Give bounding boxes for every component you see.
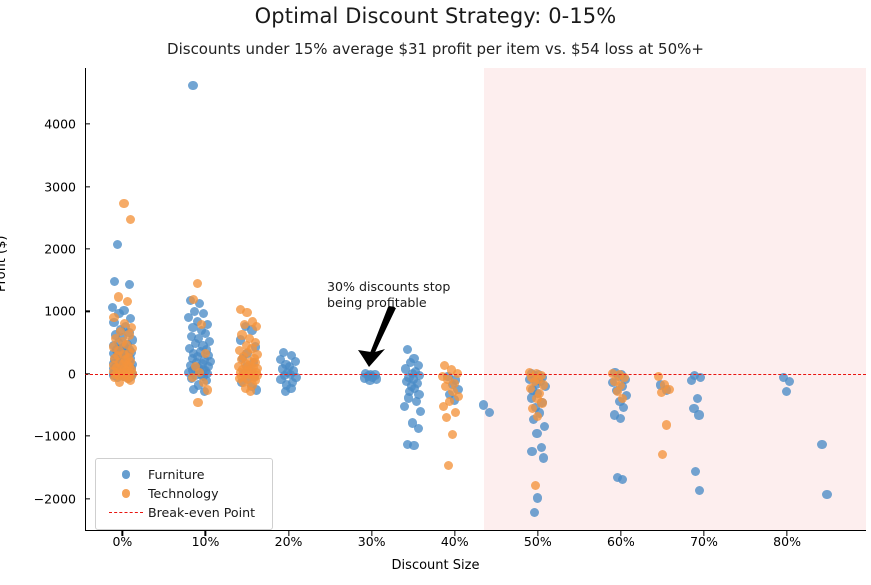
y-tick-label: −1000 — [14, 429, 76, 444]
scatter-point — [537, 398, 546, 407]
chart-title: Optimal Discount Strategy: 0-15% — [0, 4, 871, 28]
scatter-point — [618, 475, 627, 484]
scatter-point — [444, 461, 453, 470]
scatter-point — [242, 308, 251, 317]
scatter-point — [540, 422, 549, 431]
scatter-point — [662, 420, 671, 429]
legend-entry[interactable]: Break-even Point — [104, 503, 264, 522]
x-axis-label: Discount Size — [0, 558, 871, 573]
scatter-point — [454, 392, 463, 401]
scatter-point — [400, 402, 409, 411]
scatter-point — [126, 215, 135, 224]
x-tick-label: 10% — [192, 534, 220, 549]
scatter-point — [451, 408, 460, 417]
legend-marker — [104, 489, 148, 498]
scatter-point — [403, 345, 412, 354]
scatter-point — [416, 407, 425, 416]
x-tick-mark — [620, 531, 621, 536]
scatter-point — [119, 199, 128, 208]
x-tick-mark — [703, 531, 704, 536]
legend-entry[interactable]: Furniture — [104, 465, 264, 484]
x-tick-mark — [454, 531, 455, 536]
x-tick-mark — [537, 531, 538, 536]
legend-label: Furniture — [148, 467, 205, 482]
scatter-point — [527, 447, 536, 456]
y-tick-label: 1000 — [14, 304, 76, 319]
scatter-point — [533, 493, 542, 502]
scatter-point — [193, 398, 202, 407]
scatter-point — [365, 375, 374, 384]
scatter-point — [199, 309, 208, 318]
scatter-point — [691, 467, 700, 476]
legend-dot-marker — [122, 470, 131, 479]
x-tick-label: 20% — [275, 534, 303, 549]
x-tick-label: 30% — [358, 534, 386, 549]
y-tick-label: 3000 — [14, 179, 76, 194]
legend-dot-marker — [122, 489, 131, 498]
x-tick-label: 70% — [690, 534, 718, 549]
break-even-line — [85, 374, 866, 375]
scatter-point — [252, 322, 261, 331]
x-tick-label: 40% — [441, 534, 469, 549]
scatter-point — [201, 349, 210, 358]
x-tick-label: 50% — [524, 534, 552, 549]
scatter-point — [126, 376, 135, 385]
scatter-point — [412, 397, 421, 406]
y-tick-mark — [85, 435, 90, 436]
scatter-point — [110, 277, 119, 286]
scatter-point — [281, 387, 290, 396]
scatter-point — [125, 280, 134, 289]
scatter-point — [114, 292, 123, 301]
x-tick-mark — [122, 531, 123, 536]
chart-subtitle: Discounts under 15% average $31 profit p… — [0, 40, 871, 58]
y-tick-mark — [85, 498, 90, 499]
y-tick-mark — [85, 373, 90, 374]
y-tick-label: 2000 — [14, 241, 76, 256]
scatter-point — [109, 313, 118, 322]
scatter-point — [439, 402, 448, 411]
x-tick-mark — [786, 531, 787, 536]
y-tick-label: 0 — [14, 366, 76, 381]
scatter-point — [694, 410, 703, 419]
legend-label: Technology — [148, 486, 219, 501]
scatter-point — [123, 297, 132, 306]
scatter-point — [203, 385, 212, 394]
x-tick-label: 0% — [112, 534, 132, 549]
scatter-point — [532, 429, 541, 438]
x-tick-label: 80% — [773, 534, 801, 549]
scatter-point — [246, 387, 255, 396]
legend-dashed-marker — [109, 512, 143, 513]
x-tick-label: 60% — [607, 534, 635, 549]
legend-marker — [104, 470, 148, 479]
scatter-point — [539, 453, 548, 462]
x-tick-mark — [205, 531, 206, 536]
scatter-point — [822, 490, 831, 499]
scatter-point — [240, 320, 249, 329]
scatter-point — [197, 320, 206, 329]
y-axis-label: Profit ($) — [0, 236, 9, 292]
y-tick-mark — [85, 124, 90, 125]
scatter-point — [188, 81, 197, 90]
y-axis-spine — [85, 68, 86, 531]
scatter-point — [817, 440, 826, 449]
scatter-point — [442, 413, 451, 422]
chart-figure: Optimal Discount Strategy: 0-15% Discoun… — [0, 0, 871, 585]
y-tick-mark — [85, 311, 90, 312]
scatter-point — [448, 430, 457, 439]
legend-entry[interactable]: Technology — [104, 484, 264, 503]
scatter-point — [409, 441, 418, 450]
y-tick-mark — [85, 186, 90, 187]
annotation-arrow-icon — [355, 305, 400, 370]
legend-marker — [104, 512, 148, 513]
y-tick-label: 4000 — [14, 117, 76, 132]
scatter-point — [531, 481, 540, 490]
y-tick-label: −2000 — [14, 491, 76, 506]
scatter-point — [189, 385, 198, 394]
x-axis-spine — [85, 530, 866, 531]
scatter-point — [113, 240, 122, 249]
scatter-point — [537, 443, 546, 452]
x-tick-mark — [288, 531, 289, 536]
scatter-point — [414, 424, 423, 433]
scatter-point — [115, 378, 124, 387]
scatter-point — [619, 403, 628, 412]
y-tick-mark — [85, 248, 90, 249]
chart-legend: FurnitureTechnologyBreak-even Point — [95, 458, 273, 530]
scatter-point — [193, 279, 202, 288]
x-tick-mark — [371, 531, 372, 536]
legend-label: Break-even Point — [148, 505, 255, 520]
